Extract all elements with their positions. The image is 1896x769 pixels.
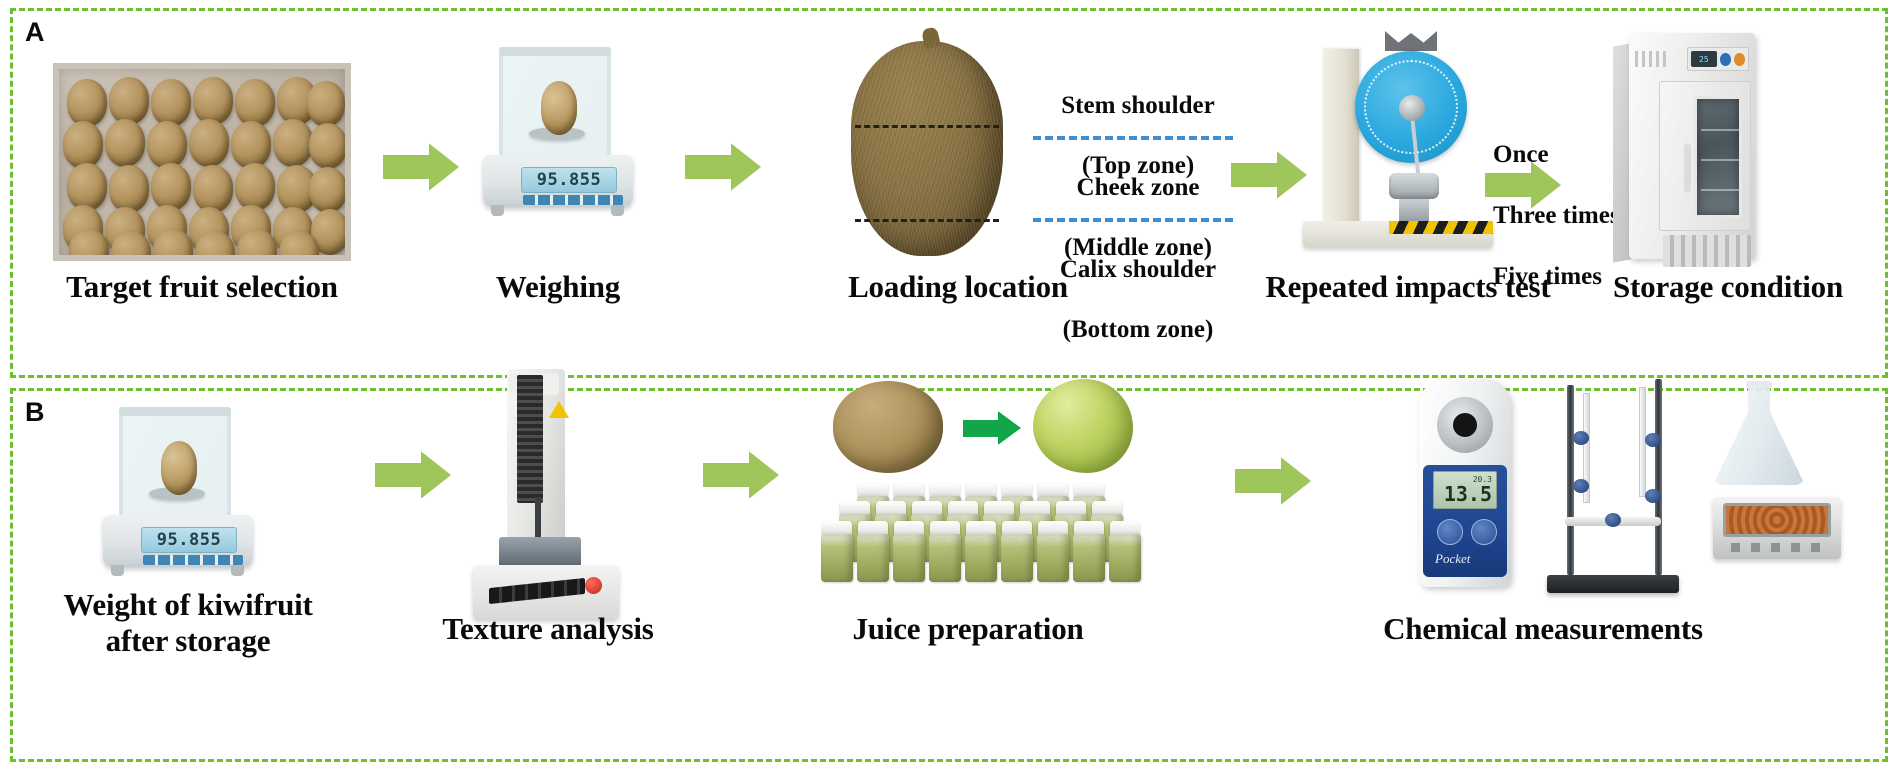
arrow-right-3	[1231, 151, 1307, 199]
arrow-right-peeling	[963, 411, 1021, 445]
arrow-right-2	[685, 143, 761, 191]
arrow-right-7	[1235, 457, 1311, 505]
panel-b: B 95.855 Weight of kiwifruit after stora…	[10, 388, 1888, 762]
caption-juice-preparation: Juice preparation	[803, 611, 1133, 647]
flask-and-hotplate	[1713, 381, 1853, 591]
hotplate-controls[interactable]	[1731, 543, 1823, 552]
kiwifruit-tray-photo	[53, 63, 351, 261]
balance-lcd-a: 95.855	[521, 167, 617, 193]
zone-line-bottom	[855, 219, 999, 222]
refractometer-brand: Pocket	[1435, 551, 1495, 567]
analytical-balance-a: 95.855	[483, 51, 633, 217]
incubator-control-panel[interactable]: 25	[1687, 47, 1749, 71]
digital-refractometer: 20.3 13.5 Pocket	[1411, 379, 1521, 591]
figure-canvas: A	[0, 0, 1896, 769]
burette-titration-stand	[1539, 379, 1687, 599]
caption-chemical-measurements: Chemical measurements	[1313, 611, 1773, 647]
zone-name-0: Stem shoulder	[1033, 91, 1243, 121]
panel-a: A	[10, 8, 1888, 378]
arrow-right-6	[703, 451, 779, 499]
zone-divider-2	[1033, 218, 1233, 222]
caption-texture-analysis: Texture analysis	[413, 611, 683, 647]
erlenmeyer-flask	[1713, 381, 1805, 485]
panel-a-letter: A	[25, 17, 45, 48]
caption-weight-after-storage: Weight of kiwifruit after storage	[43, 587, 333, 659]
impact-hammer	[1389, 173, 1439, 199]
texture-analyzer	[473, 369, 619, 619]
caption-storage-condition: Storage condition	[1573, 269, 1883, 305]
arrow-right-1	[383, 143, 459, 191]
caption-weighing: Weighing	[463, 269, 653, 305]
incubator-handle[interactable]	[1684, 144, 1691, 192]
zone-name-1: Cheek zone	[1033, 173, 1243, 203]
incubator-knob-blue[interactable]	[1720, 53, 1731, 66]
balance-lcd-b: 95.855	[141, 527, 237, 553]
arrow-right-5	[375, 451, 451, 499]
zone-alias-2: (Bottom zone)	[1033, 315, 1243, 345]
whole-kiwifruit	[833, 381, 943, 477]
kiwi-stem	[921, 27, 941, 50]
caption-target-fruit-selection: Target fruit selection	[37, 269, 367, 305]
texture-analyzer-stop-button[interactable]	[585, 577, 602, 594]
hotplate	[1713, 497, 1841, 559]
analytical-balance-b: 95.855	[103, 411, 253, 577]
panel-b-letter: B	[25, 397, 45, 428]
caption-repeated-impacts-test: Repeated impacts test	[1233, 269, 1583, 305]
pendulum-impact-tester	[1303, 23, 1495, 255]
refractometer-lcd: 20.3 13.5	[1433, 471, 1497, 509]
caption-loading-location: Loading location	[783, 269, 1133, 305]
incubator-knob-orange[interactable]	[1734, 53, 1745, 66]
texture-sample-stage	[499, 537, 581, 567]
incubator-window	[1694, 96, 1742, 218]
pendulum-release-fork	[1385, 31, 1437, 51]
zone-line-top	[855, 125, 999, 128]
storage-incubator-cabinet: 25	[1613, 21, 1773, 267]
kiwifruit-zone-diagram	[851, 41, 1003, 256]
hotplate-heating-coil	[1723, 503, 1831, 537]
peeled-kiwifruit	[1033, 379, 1137, 477]
refractometer-sample-well	[1437, 397, 1493, 453]
incubator-door[interactable]	[1659, 81, 1751, 231]
kiwifruit-juice-bottles	[813, 483, 1153, 593]
zone-divider-1	[1033, 136, 1233, 140]
refractometer-brix: 13.5	[1444, 484, 1492, 504]
arrow-right-4	[1485, 161, 1561, 209]
warning-triangle-icon	[549, 401, 569, 418]
incubator-display: 25	[1691, 51, 1717, 67]
